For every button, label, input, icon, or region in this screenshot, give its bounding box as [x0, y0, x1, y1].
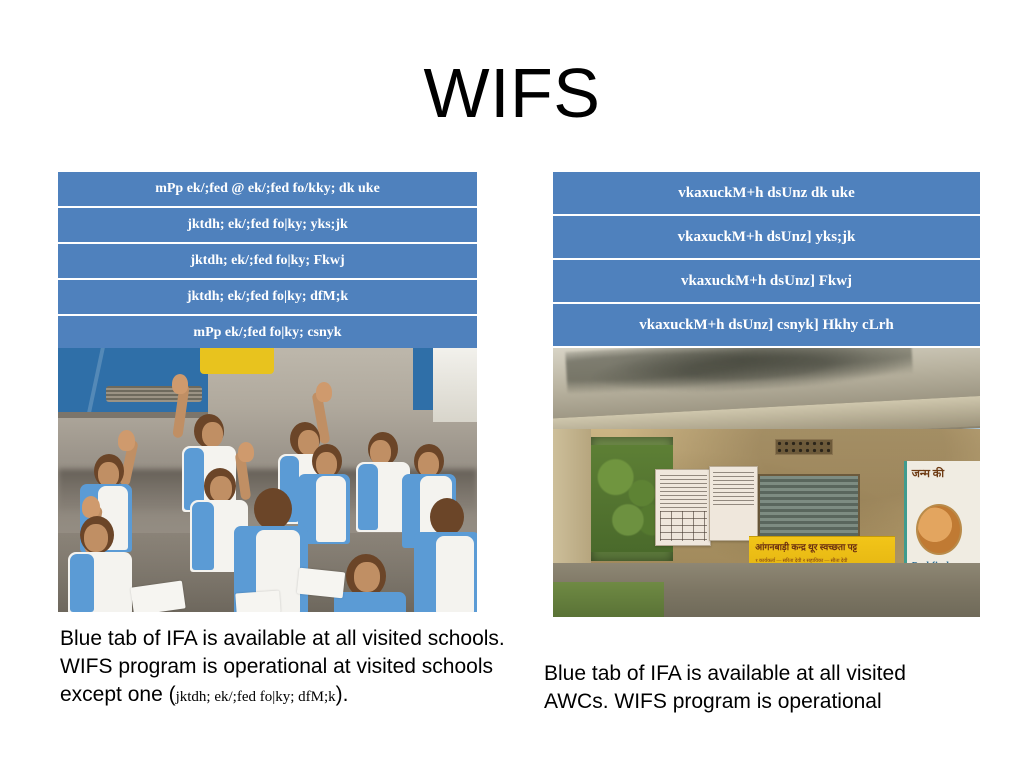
slide-canvas: WIFS mPp ek/;fed @ ek/;fed fo/kky; dk uk…: [0, 0, 1024, 768]
page-title: WIFS: [0, 58, 1024, 128]
table-row: vkaxuckM+h dsUnz] Fkwj: [553, 260, 980, 302]
poster-table-grid: [660, 511, 707, 541]
left-caption-main-2: ).: [336, 683, 349, 706]
wall-poster: [709, 466, 758, 541]
table-row: vkaxuckM+h dsUnz] csnyk] Hkhy cLrh: [553, 304, 980, 346]
wall-poster: [655, 469, 710, 546]
table-row: vkaxuckM+h dsUnz dk uke: [553, 172, 980, 214]
pathfinder-poster-title: जन्म की: [912, 466, 944, 481]
worksheet-paper: [297, 568, 345, 599]
anganwadi-table: vkaxuckM+h dsUnz dk uke vkaxuckM+h dsUnz…: [553, 172, 980, 348]
schools-table: mPp ek/;fed @ ek/;fed fo/kky; dk uke jkt…: [58, 172, 477, 352]
table-row: mPp ek/;fed @ ek/;fed fo/kky; dk uke: [58, 172, 477, 206]
blue-post: [413, 348, 435, 410]
window-grill: [758, 474, 860, 545]
yellow-placard: [200, 348, 274, 374]
worksheet-paper: [235, 590, 280, 612]
grass-patch: [553, 582, 664, 617]
table-row: vkaxuckM+h dsUnz] yks;jk: [553, 216, 980, 258]
left-caption: Blue tab of IFA is available at all visi…: [60, 625, 508, 709]
bright-opening: [433, 348, 477, 422]
pathfinder-illustration: [916, 504, 962, 555]
signage-title: आंगनबाड़ी कन्द्र थूर स्वच्छता पट्ट: [755, 540, 889, 553]
table-row: mPp ek/;fed fo|ky; csnyk: [58, 316, 477, 350]
table-row: jktdh; ek/;fed fo|ky; yks;jk: [58, 208, 477, 242]
poster-text-lines: [660, 475, 707, 510]
pathfinder-poster: जन्म की Pathfinder: [904, 461, 980, 579]
table-row: jktdh; ek/;fed fo|ky; dfM;k: [58, 280, 477, 314]
left-caption-small: jktdh; ek/;fed fo|ky; dfM;k: [176, 689, 336, 705]
anganwadi-photo: आंगनबाड़ी कन्द्र थूर स्वच्छता पट्ट १ कार…: [553, 348, 980, 617]
wall-vent: [775, 439, 833, 454]
poster-text-lines: [713, 472, 754, 505]
classroom-photo: [58, 348, 477, 612]
table-row: jktdh; ek/;fed fo|ky; Fkwj: [58, 244, 477, 278]
roof-mold: [565, 348, 913, 400]
right-caption: Blue tab of IFA is available at all visi…: [544, 660, 974, 716]
